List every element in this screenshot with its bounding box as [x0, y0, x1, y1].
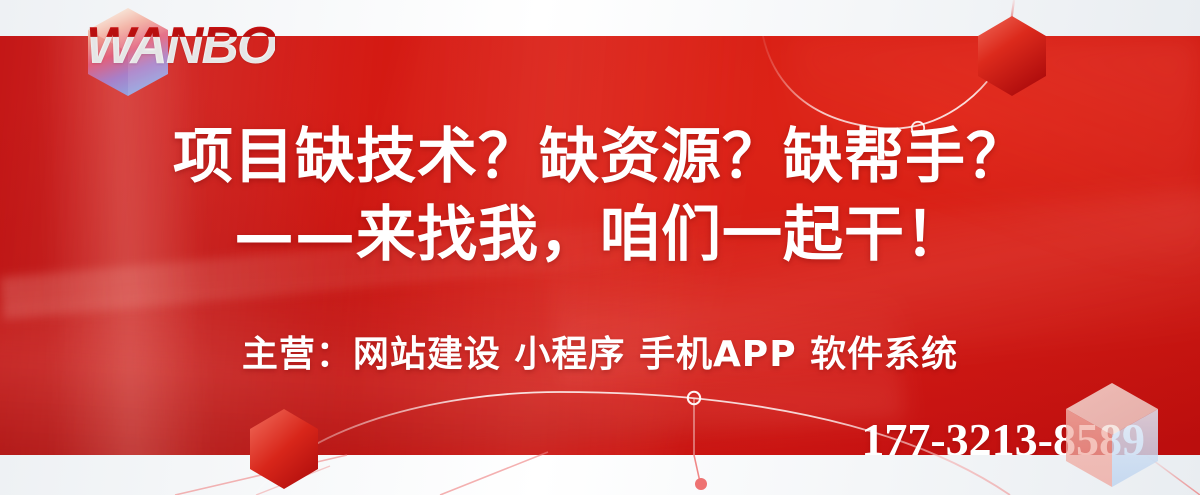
services-subtitle: 主营：网站建设 小程序 手机APP 软件系统 [0, 333, 1200, 377]
brand-logo-text: WANBO [86, 20, 275, 72]
headline-block: 项目缺技术？缺资源？缺帮手？ ——来找我，咱们一起干！ [0, 118, 1200, 274]
headline-line-2: ——来找我，咱们一起干！ [0, 196, 1200, 274]
bottom-white-band [0, 455, 1200, 495]
headline-line-1: 项目缺技术？缺资源？缺帮手？ [0, 118, 1200, 196]
brand-logo[interactable]: WANBO [82, 6, 292, 98]
promo-banner: WANBO 项目缺技术？缺资源？缺帮手？ ——来找我，咱们一起干！ 主营：网站建… [0, 0, 1200, 495]
